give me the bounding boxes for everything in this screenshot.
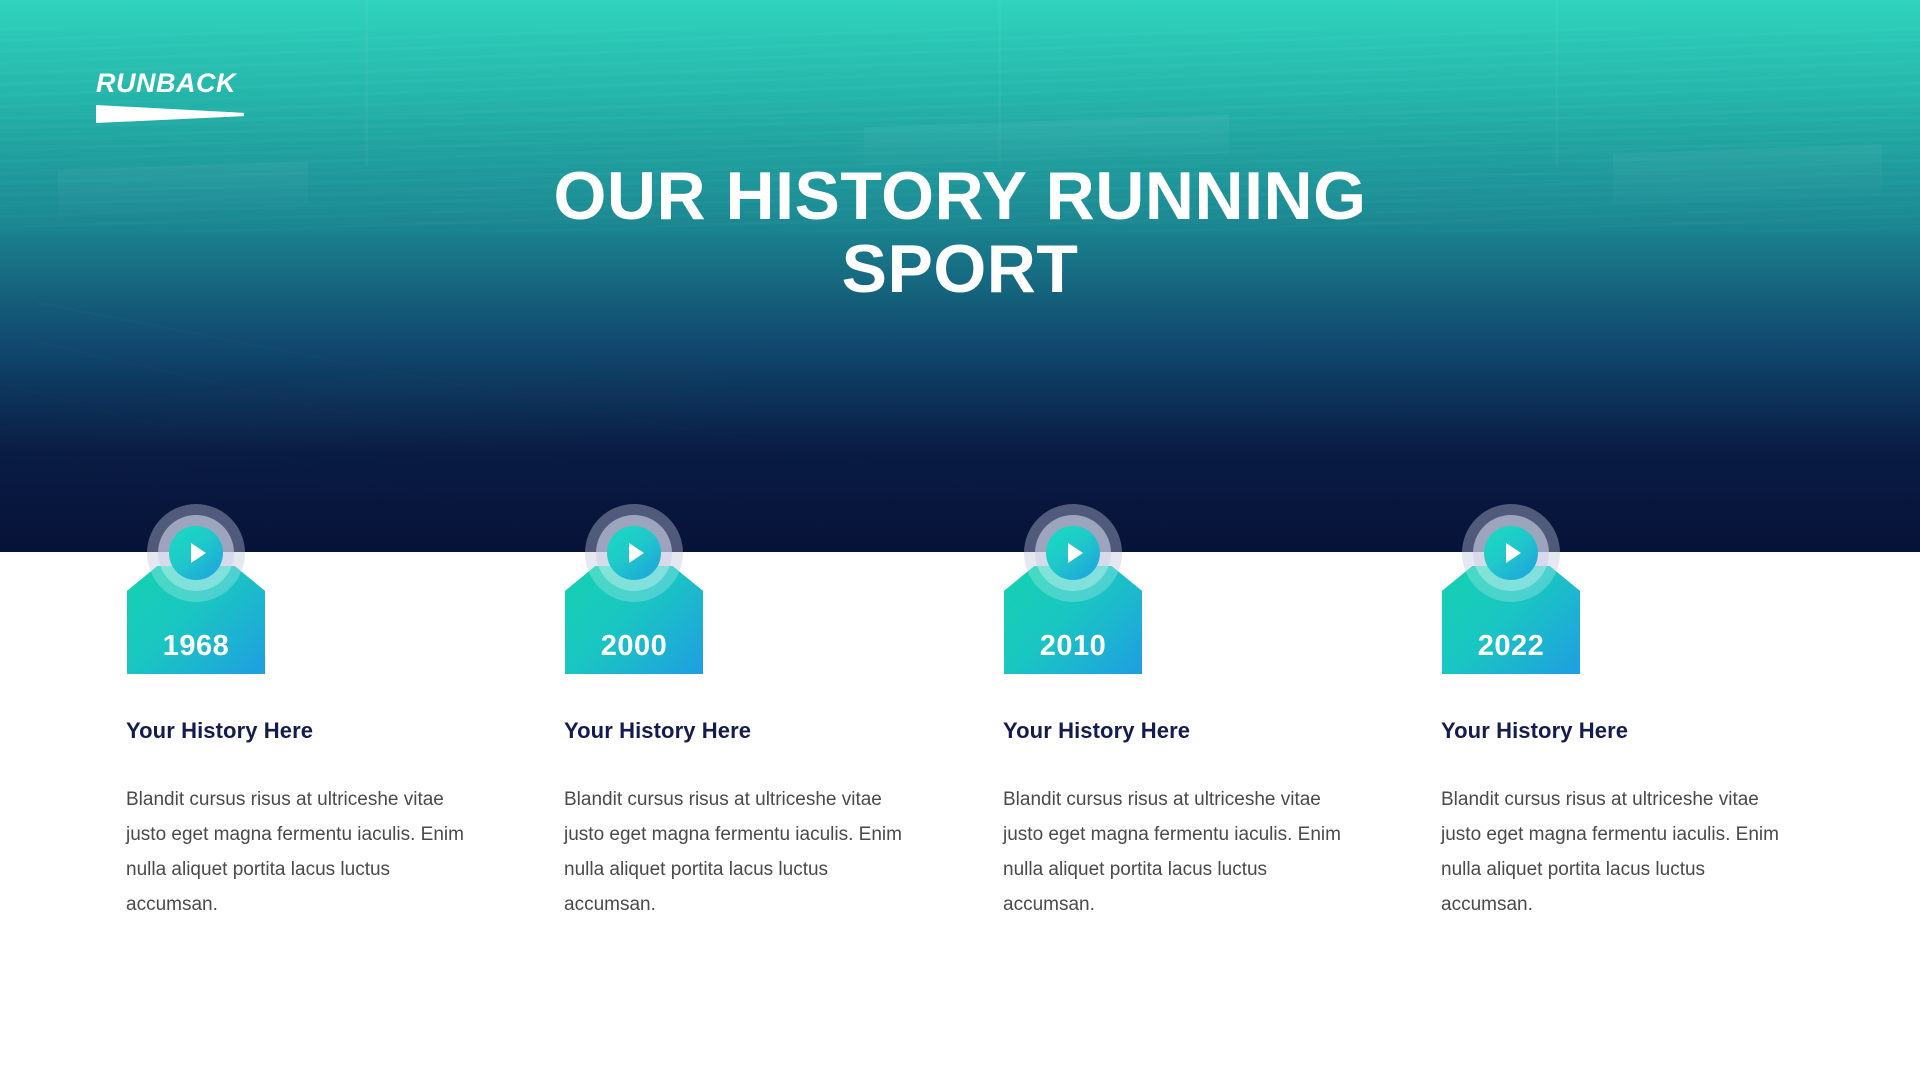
history-block-2010: Your History Here Blandit cursus risus a…	[1003, 718, 1363, 923]
timeline-marker[interactable]: 2000	[564, 496, 704, 680]
timeline-marker[interactable]: 2010	[1003, 496, 1143, 680]
brand-name: RUNBACK	[96, 70, 296, 97]
history-heading: Your History Here	[1441, 718, 1801, 744]
history-text: Blandit cursus risus at ultriceshe vitae…	[564, 782, 924, 923]
play-triangle	[191, 543, 206, 563]
play-icon[interactable]	[607, 526, 661, 580]
timeline-item-1968: 1968	[126, 496, 540, 680]
timeline-item-2022: 2022	[1441, 496, 1855, 680]
timeline-marker[interactable]: 1968	[126, 496, 266, 680]
history-heading: Your History Here	[126, 718, 486, 744]
year-label: 2010	[1003, 630, 1143, 663]
play-triangle	[1068, 543, 1083, 563]
history-block-2000: Your History Here Blandit cursus risus a…	[564, 718, 924, 923]
play-triangle	[629, 543, 644, 563]
slide-root: RUNBACK OUR HISTORY RUNNING SPORT 1968	[0, 0, 1920, 1080]
page-title: OUR HISTORY RUNNING SPORT	[530, 160, 1390, 307]
play-icon[interactable]	[1484, 526, 1538, 580]
swoosh-icon	[96, 105, 244, 123]
history-text: Blandit cursus risus at ultriceshe vitae…	[1003, 782, 1363, 923]
year-label: 2022	[1441, 630, 1581, 663]
play-icon[interactable]	[169, 526, 223, 580]
history-heading: Your History Here	[564, 718, 924, 744]
history-block-2022: Your History Here Blandit cursus risus a…	[1441, 718, 1801, 923]
brand-logo[interactable]: RUNBACK	[96, 70, 296, 123]
timeline-item-2010: 2010	[1003, 496, 1417, 680]
timeline-item-2000: 2000	[564, 496, 978, 680]
history-text: Blandit cursus risus at ultriceshe vitae…	[126, 782, 486, 923]
play-icon[interactable]	[1046, 526, 1100, 580]
year-label: 1968	[126, 630, 266, 663]
history-heading: Your History Here	[1003, 718, 1363, 744]
history-block-1968: Your History Here Blandit cursus risus a…	[126, 718, 486, 923]
play-triangle	[1506, 543, 1521, 563]
history-text: Blandit cursus risus at ultriceshe vitae…	[1441, 782, 1801, 923]
timeline-marker[interactable]: 2022	[1441, 496, 1581, 680]
year-label: 2000	[564, 630, 704, 663]
hero-section: RUNBACK OUR HISTORY RUNNING SPORT	[0, 0, 1920, 552]
